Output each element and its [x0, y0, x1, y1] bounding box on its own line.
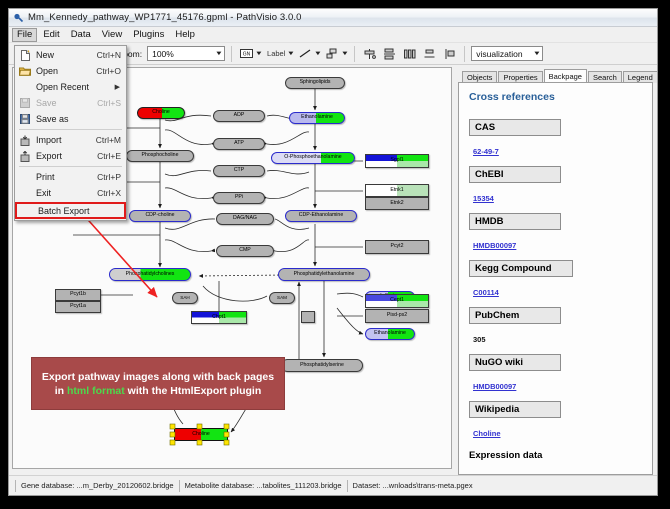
pathvisio-icon: [13, 12, 24, 23]
callout-text-after: with the HtmlExport plugin: [125, 385, 262, 397]
node-label: Phosphatidylcholines: [126, 272, 175, 277]
stack-icon[interactable]: [441, 45, 458, 62]
node-atp[interactable]: ATP: [213, 138, 265, 150]
node-ethanolamine-1[interactable]: Ethanolamine: [289, 112, 345, 124]
chevron-down-icon[interactable]: ▼: [314, 51, 322, 57]
menu-label: Import: [36, 135, 96, 145]
node-ethanolamine-2[interactable]: Ethanolamine: [365, 328, 415, 340]
node-label: O-Phosphoethanolamine: [284, 155, 341, 160]
zoom-value: 100%: [152, 49, 174, 59]
node-phosphatidylserine[interactable]: Phosphatidylserine: [281, 359, 363, 372]
menu-accelerator: Ctrl+M: [96, 135, 126, 145]
menu-separator: [19, 166, 122, 167]
chevron-down-icon: ▼: [533, 51, 541, 57]
node-ppi[interactable]: PPi: [213, 192, 265, 204]
menu-label: Print: [36, 172, 97, 182]
node-label: Pcyt2: [391, 244, 404, 249]
screen: Mm_Kennedy_pathway_WP1771_45176.gpml - P…: [0, 0, 670, 509]
node-sphingolipids[interactable]: Sphingolipids: [285, 77, 345, 89]
new-document-icon: [17, 48, 33, 62]
menu-item-exit[interactable]: Exit Ctrl+X: [15, 185, 126, 201]
node-label: CTP: [234, 168, 244, 173]
gene-chpt1[interactable]: Chpt1: [191, 311, 247, 324]
node-choline-top[interactable]: Choline: [137, 107, 185, 119]
node-label: Etnk2: [390, 201, 403, 206]
blank-icon: [17, 80, 33, 94]
node-label: SAH: [180, 296, 189, 301]
menu-label: Open Recent: [36, 82, 115, 92]
datanode-icon[interactable]: GN: [238, 45, 255, 62]
status-bar: Gene database: ...m_Derby_20120602.bridg…: [9, 475, 658, 495]
node-sam[interactable]: SAM: [269, 292, 295, 304]
gene-anchor-box[interactable]: [301, 311, 315, 323]
blank-icon: [17, 186, 33, 200]
menu-label: New: [36, 50, 97, 60]
menu-label: Save: [36, 98, 97, 108]
panel-tabs: Objects Properties Backpage Search Legen…: [458, 69, 653, 83]
menu-accelerator: Ctrl+E: [97, 151, 126, 161]
gene-pisd-ps2[interactable]: Pisd-ps2: [365, 309, 429, 323]
node-label: Sgpl1: [390, 158, 403, 163]
gene-pcyt1a[interactable]: Pcyt1a: [55, 301, 101, 313]
label-tool-icon[interactable]: Label: [265, 45, 287, 62]
status-metabolite-database: Metabolite database: ...tabolites_111203…: [179, 480, 347, 492]
xref-value-cas[interactable]: 62-49-7: [473, 147, 499, 156]
shape-tool-group[interactable]: ▼: [324, 45, 348, 62]
menu-accelerator: Ctrl+O: [96, 66, 126, 76]
annotation-callout: Export pathway images along with back pa…: [31, 357, 285, 410]
selection-handles[interactable]: [168, 422, 234, 447]
menu-item-open[interactable]: Open Ctrl+O: [15, 63, 126, 79]
menu-accelerator: Ctrl+S: [97, 98, 126, 108]
callout-highlight: html format: [67, 385, 125, 397]
node-cmp[interactable]: CMP: [216, 245, 274, 257]
node-adp[interactable]: ADP: [213, 110, 265, 122]
save-icon: [17, 96, 33, 110]
menu-help[interactable]: Help: [170, 28, 200, 42]
node-label: Chpt1: [212, 315, 226, 320]
node-label: SAM: [277, 296, 287, 301]
xref-header-kegg: Kegg Compound: [469, 260, 573, 277]
menu-item-print[interactable]: Print Ctrl+P: [15, 169, 126, 185]
menu-accelerator: Ctrl+X: [97, 188, 126, 198]
node-cdp-ethanolamine[interactable]: CDP-Ethanolamine: [285, 210, 357, 222]
menu-item-export[interactable]: Export Ctrl+E: [15, 148, 126, 164]
expression-data-title: Expression data: [469, 450, 642, 461]
side-panel: Objects Properties Backpage Search Legen…: [456, 65, 656, 477]
node-phosphocholine[interactable]: Phosphocholine: [126, 150, 194, 162]
node-label: Cept1: [390, 298, 404, 303]
file-menu-dropdown: New Ctrl+N Open Ctrl+O Open Recent ▶ Sav…: [14, 45, 127, 221]
xref-value-chebi[interactable]: 15354: [473, 194, 494, 203]
menu-file[interactable]: File: [12, 28, 37, 42]
node-o-phosphoethanolamine[interactable]: O-Phosphoethanolamine: [271, 152, 355, 164]
menu-edit[interactable]: Edit: [38, 28, 64, 42]
node-label: PPi: [235, 195, 243, 200]
node-label: CDP-Ethanolamine: [299, 213, 343, 218]
xref-value-hmdb[interactable]: HMDB00097: [473, 241, 516, 250]
gene-sgpl1[interactable]: Sgpl1: [365, 154, 429, 168]
menu-item-save: Save Ctrl+S: [15, 95, 126, 111]
application-window: Mm_Kennedy_pathway_WP1771_45176.gpml - P…: [8, 8, 658, 496]
node-label: Ethanolamine: [374, 331, 406, 336]
node-label: ADP: [234, 113, 245, 118]
gene-pcyt2[interactable]: Pcyt2: [365, 240, 429, 254]
align-top-icon[interactable]: [361, 45, 378, 62]
node-label: Pcyt1a: [70, 304, 86, 309]
backpage-content[interactable]: Cross references CAS 62-49-7 ChEBI 15354…: [458, 82, 653, 475]
align-distribute-icon[interactable]: [401, 45, 418, 62]
node-label: Phosphatidylserine: [300, 363, 344, 368]
menu-bar: File Edit Data View Plugins Help: [9, 27, 657, 43]
line-icon[interactable]: [297, 45, 314, 62]
toolbar-separator: [231, 46, 232, 62]
xref-value-pubchem: 305: [473, 335, 486, 344]
visualization-value: visualization: [476, 49, 522, 59]
node-label: CDP-choline: [145, 213, 174, 218]
node-label: Pcyt1b: [70, 292, 86, 297]
node-ctp[interactable]: CTP: [213, 165, 265, 177]
cross-references-title: Cross references: [469, 91, 642, 103]
menu-label: Open: [36, 66, 96, 76]
menu-item-batch-export[interactable]: Batch Export: [15, 202, 126, 219]
blank-icon: [17, 170, 33, 184]
xref-header-hmdb: HMDB: [469, 213, 561, 230]
status-dataset: Dataset: ...wnloads\trans-meta.pgex: [347, 480, 478, 492]
menu-separator: [19, 129, 122, 130]
blank-icon: [19, 204, 35, 218]
node-dag-nag[interactable]: DAG/NAG: [216, 213, 274, 225]
menu-item-save-as[interactable]: Save as: [15, 111, 126, 127]
common-width-icon[interactable]: [421, 45, 438, 62]
menu-plugins[interactable]: Plugins: [128, 28, 169, 42]
menu-item-import[interactable]: Import Ctrl+M: [15, 132, 126, 148]
open-folder-icon: [17, 64, 33, 78]
node-phosphatidylcholines[interactable]: Phosphatidylcholines: [109, 268, 191, 281]
align-left-icon[interactable]: [381, 45, 398, 62]
node-label: Etnk1: [390, 188, 403, 193]
node-label: ATP: [234, 141, 244, 146]
title-bar: Mm_Kennedy_pathway_WP1771_45176.gpml - P…: [9, 9, 657, 27]
import-icon: [17, 133, 33, 147]
node-label: Choline: [152, 110, 170, 115]
menu-label: Batch Export: [38, 206, 124, 216]
xref-header-cas: CAS: [469, 119, 561, 136]
label-tool-group[interactable]: Label ▼: [265, 45, 294, 62]
node-label: Ethanolamine: [301, 115, 333, 120]
save-as-icon: [17, 112, 33, 126]
xref-header-wikipedia: Wikipedia: [469, 401, 561, 418]
gene-pcyt1b[interactable]: Pcyt1b: [55, 289, 101, 301]
chevron-down-icon[interactable]: ▼: [255, 51, 263, 57]
xref-value-nugo[interactable]: HMDB00097: [473, 382, 516, 391]
datanode-tool-group[interactable]: GN ▼: [238, 45, 262, 62]
zoom-combo[interactable]: 100% ▼: [147, 46, 225, 61]
chevron-down-icon[interactable]: ▼: [341, 51, 349, 57]
window-title: Mm_Kennedy_pathway_WP1771_45176.gpml - P…: [28, 12, 302, 23]
node-label: CMP: [239, 248, 251, 253]
xref-header-chebi: ChEBI: [469, 166, 561, 183]
node-label: DAG/NAG: [233, 216, 257, 221]
gene-etnk2[interactable]: Etnk2: [365, 197, 429, 210]
chevron-down-icon: ▼: [215, 51, 223, 57]
menu-accelerator: Ctrl+N: [97, 50, 126, 60]
toolbar-separator: [354, 46, 355, 62]
menu-label: Export: [36, 151, 97, 161]
menu-item-open-recent[interactable]: Open Recent ▶: [15, 79, 126, 95]
node-label: Phosphatidylethanolamine: [294, 272, 355, 277]
menu-label: Save as: [36, 114, 121, 124]
menu-data[interactable]: Data: [66, 28, 96, 42]
menu-label: Exit: [36, 188, 97, 198]
node-label: Pisd-ps2: [387, 313, 407, 318]
xref-header-pubchem: PubChem: [469, 307, 561, 324]
shape-icon[interactable]: [324, 45, 341, 62]
node-sah[interactable]: SAH: [172, 292, 198, 304]
gene-cept1[interactable]: Cept1: [365, 294, 429, 308]
node-cdp-choline[interactable]: CDP-choline: [129, 210, 191, 222]
gene-etnk1[interactable]: Etnk1: [365, 184, 429, 197]
svg-text:GN: GN: [243, 52, 251, 58]
tab-backpage[interactable]: Backpage: [544, 69, 587, 83]
visualization-combo[interactable]: visualization ▼: [471, 46, 543, 61]
menu-accelerator: Ctrl+P: [97, 172, 126, 182]
status-gene-database: Gene database: ...m_Derby_20120602.bridg…: [15, 480, 179, 492]
chevron-down-icon[interactable]: ▼: [287, 51, 295, 57]
line-tool-group[interactable]: ▼: [297, 45, 321, 62]
toolbar-separator: [464, 46, 465, 62]
export-icon: [17, 149, 33, 163]
menu-item-new[interactable]: New Ctrl+N: [15, 47, 126, 63]
xref-value-wikipedia[interactable]: Choline: [473, 429, 501, 438]
xref-value-kegg[interactable]: C00114: [473, 288, 499, 297]
chevron-right-icon: ▶: [115, 83, 126, 91]
menu-view[interactable]: View: [97, 28, 127, 42]
node-phosphatidylethanolamine[interactable]: Phosphatidylethanolamine: [278, 268, 370, 281]
xref-header-nugo: NuGO wiki: [469, 354, 561, 371]
node-label: Sphingolipids: [300, 80, 331, 85]
node-label: Phosphocholine: [142, 153, 179, 158]
